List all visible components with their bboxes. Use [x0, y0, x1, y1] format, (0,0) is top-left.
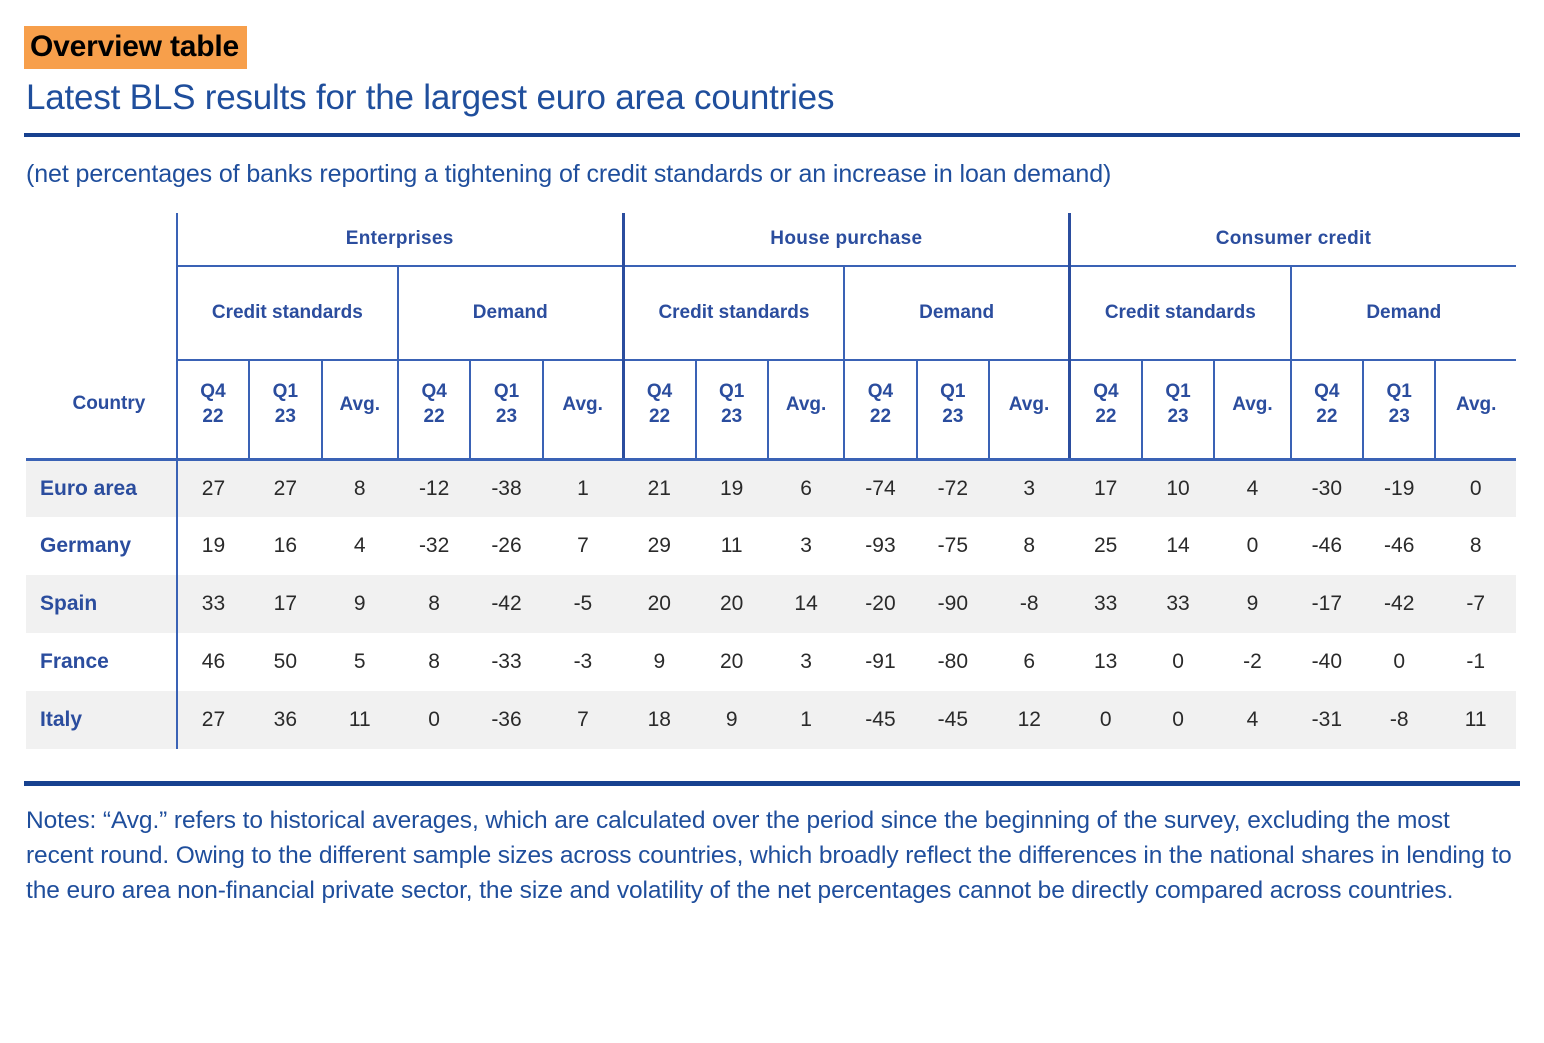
cell-value: 6 [768, 459, 844, 517]
cell-value: 7 [543, 517, 623, 575]
row-country-label: Spain [26, 575, 177, 633]
overview-table-page: Overview table Latest BLS results for th… [0, 0, 1544, 1043]
cell-value: 11 [322, 691, 398, 749]
notes-divider [24, 781, 1520, 786]
cell-value: 21 [623, 459, 695, 517]
cell-value: 33 [1142, 575, 1214, 633]
leaf-line-2: 22 [1292, 405, 1362, 430]
cell-value: 17 [1070, 459, 1142, 517]
cell-value: 0 [398, 691, 470, 749]
page-title: Latest BLS results for the largest euro … [26, 77, 1520, 119]
cell-value: -31 [1291, 691, 1363, 749]
subgroup-line-1: Credit [212, 302, 267, 323]
cell-value: 11 [1435, 691, 1516, 749]
leaf-line-1: Q1 [697, 380, 767, 405]
leaf-line-1: Q4 [625, 380, 695, 405]
leaf-line-1: Q1 [918, 380, 988, 405]
cell-value: -36 [470, 691, 542, 749]
cell-value: 27 [177, 691, 249, 749]
cell-value: 10 [1142, 459, 1214, 517]
cell-value: 20 [696, 633, 768, 691]
row-country-label: France [26, 633, 177, 691]
leaf-line-2: 23 [918, 405, 988, 430]
cell-value: 9 [322, 575, 398, 633]
table-row: Italy2736110-3671891-45-4512004-31-811 [26, 691, 1516, 749]
column-header-ent-dem-q1-23: Q1 23 [470, 360, 542, 460]
subtitle: (net percentages of banks reporting a ti… [26, 158, 1520, 191]
group-header-row: Enterprises House purchase Consumer cred… [26, 213, 1516, 266]
cell-value: 27 [249, 459, 321, 517]
subgroup-house-purchase-demand: Demand [844, 266, 1069, 360]
cell-value: 4 [1214, 691, 1290, 749]
column-header-cc-dem-q4-22: Q4 22 [1291, 360, 1363, 460]
cell-value: 0 [1363, 633, 1435, 691]
cell-value: 29 [623, 517, 695, 575]
cell-value: -45 [917, 691, 989, 749]
column-header-hp-dem-avg: Avg. [989, 360, 1069, 460]
leaf-line-1: Q1 [471, 380, 541, 405]
cell-value: -90 [917, 575, 989, 633]
cell-value: 4 [1214, 459, 1290, 517]
cell-value: -32 [398, 517, 470, 575]
cell-value: -8 [1363, 691, 1435, 749]
cell-value: 1 [768, 691, 844, 749]
table-container: Enterprises House purchase Consumer cred… [24, 213, 1520, 750]
cell-value: -1 [1435, 633, 1516, 691]
column-header-cc-cs-q4-22: Q4 22 [1070, 360, 1142, 460]
cell-value: 46 [177, 633, 249, 691]
cell-value: 14 [1142, 517, 1214, 575]
cell-value: 1 [543, 459, 623, 517]
cell-value: -80 [917, 633, 989, 691]
cell-value: -17 [1291, 575, 1363, 633]
cell-value: 16 [249, 517, 321, 575]
leaf-line-2: 23 [250, 405, 320, 430]
column-header-ent-dem-q4-22: Q4 22 [398, 360, 470, 460]
cell-value: 25 [1070, 517, 1142, 575]
cell-value: -42 [1363, 575, 1435, 633]
cell-value: 3 [989, 459, 1069, 517]
leaf-line-1: Q4 [845, 380, 915, 405]
cell-value: -38 [470, 459, 542, 517]
cell-value: 12 [989, 691, 1069, 749]
group-header-enterprises: Enterprises [177, 213, 623, 266]
column-header-hp-dem-q1-23: Q1 23 [917, 360, 989, 460]
cell-value: 5 [322, 633, 398, 691]
cell-value: 36 [249, 691, 321, 749]
row-country-label: Germany [26, 517, 177, 575]
column-header-country: Country [26, 360, 177, 460]
leaf-line-1: Q1 [250, 380, 320, 405]
cell-value: -72 [917, 459, 989, 517]
cell-value: 13 [1070, 633, 1142, 691]
cell-value: -2 [1214, 633, 1290, 691]
subgroup-house-purchase-credit-standards: Credit standards [623, 266, 844, 360]
cell-value: 33 [1070, 575, 1142, 633]
notes-text: Notes: “Avg.” refers to historical avera… [26, 804, 1520, 908]
cell-value: -75 [917, 517, 989, 575]
cell-value: -26 [470, 517, 542, 575]
column-header-ent-cs-q1-23: Q1 23 [249, 360, 321, 460]
cell-value: 50 [249, 633, 321, 691]
subgroup-enterprises-demand: Demand [398, 266, 623, 360]
leaf-line-1: Q4 [1071, 380, 1141, 405]
cell-value: 19 [177, 517, 249, 575]
leaf-line-2: 23 [1364, 405, 1434, 430]
cell-value: -8 [989, 575, 1069, 633]
cell-value: 0 [1142, 691, 1214, 749]
cell-value: -40 [1291, 633, 1363, 691]
cell-value: -12 [398, 459, 470, 517]
cell-value: 9 [696, 691, 768, 749]
cell-value: 8 [322, 459, 398, 517]
cell-value: 0 [1214, 517, 1290, 575]
table-row: France465058-33-39203-91-806130-2-400-1 [26, 633, 1516, 691]
row-country-label: Italy [26, 691, 177, 749]
subgroup-consumer-credit-demand: Demand [1291, 266, 1516, 360]
cell-value: 20 [623, 575, 695, 633]
cell-value: 9 [623, 633, 695, 691]
leaf-line-1: Q4 [1292, 380, 1362, 405]
column-header-hp-cs-q1-23: Q1 23 [696, 360, 768, 460]
cell-value: -45 [844, 691, 916, 749]
subgroup-header-row: Credit standards Demand Credit standards… [26, 266, 1516, 360]
column-header-ent-cs-avg: Avg. [322, 360, 398, 460]
cell-value: 3 [768, 517, 844, 575]
cell-value: -74 [844, 459, 916, 517]
leaf-line-2: 23 [471, 405, 541, 430]
cell-value: -46 [1291, 517, 1363, 575]
cell-value: -20 [844, 575, 916, 633]
column-header-cc-dem-q1-23: Q1 23 [1363, 360, 1435, 460]
cell-value: -5 [543, 575, 623, 633]
cell-value: 9 [1214, 575, 1290, 633]
leaf-line-2: 23 [697, 405, 767, 430]
leaf-line-2: 22 [399, 405, 469, 430]
column-header-hp-dem-q4-22: Q4 22 [844, 360, 916, 460]
cell-value: -30 [1291, 459, 1363, 517]
leaf-line-2: 22 [845, 405, 915, 430]
column-header-hp-cs-q4-22: Q4 22 [623, 360, 695, 460]
subgroup-enterprises-credit-standards: Credit standards [177, 266, 398, 360]
cell-value: -46 [1363, 517, 1435, 575]
kicker-badge: Overview table [24, 26, 247, 69]
leaf-line-2: 22 [1071, 405, 1141, 430]
column-header-ent-cs-q4-22: Q4 22 [177, 360, 249, 460]
cell-value: 27 [177, 459, 249, 517]
column-header-cc-cs-q1-23: Q1 23 [1142, 360, 1214, 460]
subgroup-line-2: standards [719, 302, 810, 323]
cell-value: -93 [844, 517, 916, 575]
cell-value: 18 [623, 691, 695, 749]
group-header-house-purchase: House purchase [623, 213, 1069, 266]
column-header-cc-cs-avg: Avg. [1214, 360, 1290, 460]
cell-value: 17 [249, 575, 321, 633]
cell-value: 33 [177, 575, 249, 633]
subgroup-line-1: Credit [1105, 302, 1160, 323]
leaf-line-1: Q1 [1143, 380, 1213, 405]
cell-value: 8 [398, 633, 470, 691]
table-head: Enterprises House purchase Consumer cred… [26, 213, 1516, 460]
cell-value: 0 [1435, 459, 1516, 517]
cell-value: 11 [696, 517, 768, 575]
cell-value: -7 [1435, 575, 1516, 633]
table-row: Spain331798-42-5202014-20-90-833339-17-4… [26, 575, 1516, 633]
subgroup-consumer-credit-credit-standards: Credit standards [1070, 266, 1291, 360]
row-country-label: Euro area [26, 459, 177, 517]
cell-value: -91 [844, 633, 916, 691]
leaf-header-row: Country Q4 22 Q1 23 Avg. Q4 22 [26, 360, 1516, 460]
cell-value: 4 [322, 517, 398, 575]
cell-value: 14 [768, 575, 844, 633]
kicker-container: Overview table [24, 0, 1520, 69]
group-header-consumer-credit: Consumer credit [1070, 213, 1517, 266]
leaf-line-1: Q4 [178, 380, 248, 405]
leaf-line-2: 22 [178, 405, 248, 430]
cell-value: 8 [989, 517, 1069, 575]
subgroup-line-2: standards [272, 302, 363, 323]
cell-value: 20 [696, 575, 768, 633]
cell-value: -33 [470, 633, 542, 691]
leaf-line-1: Q4 [399, 380, 469, 405]
column-header-hp-cs-avg: Avg. [768, 360, 844, 460]
corner-cell-2 [26, 266, 177, 360]
cell-value: -3 [543, 633, 623, 691]
cell-value: 3 [768, 633, 844, 691]
bls-results-table: Enterprises House purchase Consumer cred… [26, 213, 1516, 750]
cell-value: 8 [1435, 517, 1516, 575]
cell-value: -19 [1363, 459, 1435, 517]
cell-value: 6 [989, 633, 1069, 691]
cell-value: 0 [1142, 633, 1214, 691]
cell-value: 19 [696, 459, 768, 517]
leaf-line-1: Q1 [1364, 380, 1434, 405]
subgroup-line-1: Credit [658, 302, 713, 323]
cell-value: 0 [1070, 691, 1142, 749]
title-divider [24, 133, 1520, 137]
subgroup-line-2: standards [1165, 302, 1256, 323]
leaf-line-2: 23 [1143, 405, 1213, 430]
leaf-line-2: 22 [625, 405, 695, 430]
table-row: Euro area27278-12-38121196-74-72317104-3… [26, 459, 1516, 517]
cell-value: -42 [470, 575, 542, 633]
table-row: Germany19164-32-26729113-93-75825140-46-… [26, 517, 1516, 575]
cell-value: 8 [398, 575, 470, 633]
cell-value: 7 [543, 691, 623, 749]
column-header-ent-dem-avg: Avg. [543, 360, 623, 460]
corner-cell [26, 213, 177, 266]
table-body: Euro area27278-12-38121196-74-72317104-3… [26, 459, 1516, 749]
column-header-cc-dem-avg: Avg. [1435, 360, 1516, 460]
